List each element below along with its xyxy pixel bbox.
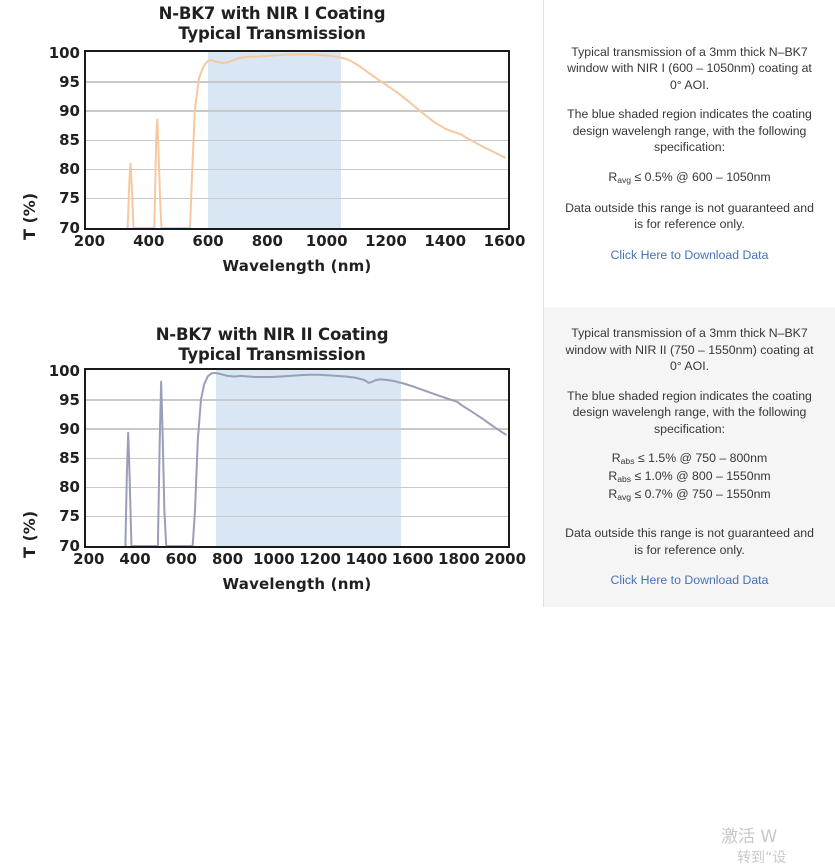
spacer bbox=[563, 517, 816, 525]
download-data-link[interactable]: Click Here to Download Data bbox=[611, 248, 769, 262]
x-tick-label: 400 bbox=[119, 552, 150, 567]
spec-line: Ravg ≤ 0.7% @ 750 – 1550nm bbox=[563, 486, 816, 504]
x-tick-label: 800 bbox=[252, 234, 283, 249]
x-tick-label: 1200 bbox=[365, 234, 407, 249]
x-tick-label: 1000 bbox=[306, 234, 348, 249]
x-axis-label-nir-i: Wavelength (nm) bbox=[84, 257, 510, 275]
spec-value: ≤ 1.0% @ 800 – 1550nm bbox=[631, 469, 771, 483]
y-tick-labels-nir-i: 707580859095100 bbox=[32, 50, 80, 230]
spec-subscript: avg bbox=[617, 492, 631, 502]
spec-line: Rabs ≤ 1.0% @ 800 – 1550nm bbox=[563, 468, 816, 486]
series-line bbox=[125, 373, 505, 546]
x-tick-label: 1400 bbox=[424, 234, 466, 249]
chart-pane-nir-ii: N-BK7 with NIR II Coating Typical Transm… bbox=[0, 307, 544, 607]
spec-subscript: avg bbox=[617, 175, 631, 185]
spec-line: Ravg ≤ 0.5% @ 600 – 1050nm bbox=[563, 169, 816, 187]
page-root: N-BK7 with NIR I Coating Typical Transmi… bbox=[0, 0, 835, 607]
chart-title-nir-i: N-BK7 with NIR I Coating Typical Transmi… bbox=[0, 4, 544, 44]
x-tick-label: 1200 bbox=[299, 552, 341, 567]
x-tick-label: 1400 bbox=[346, 552, 388, 567]
spec-symbol: R bbox=[608, 170, 617, 184]
series-line bbox=[128, 54, 505, 228]
y-tick-label: 85 bbox=[34, 133, 80, 148]
x-tick-label: 400 bbox=[133, 234, 164, 249]
data-curve bbox=[86, 52, 508, 228]
plot-area-nir-i: T (%) 707580859095100 200400600800100012… bbox=[0, 50, 544, 265]
y-tick-label: 85 bbox=[34, 451, 80, 466]
x-tick-labels-nir-ii: 200400600800100012001400160018002000 bbox=[84, 552, 510, 574]
info-paragraph: The blue shaded region indicates the coa… bbox=[563, 106, 816, 156]
y-tick-label: 90 bbox=[34, 104, 80, 119]
spec-subscript: abs bbox=[621, 456, 635, 466]
x-tick-labels-nir-i: 2004006008001000120014001600 bbox=[84, 234, 510, 256]
download-data-link[interactable]: Click Here to Download Data bbox=[611, 573, 769, 587]
y-tick-label: 75 bbox=[34, 509, 80, 524]
watermark-line1: 激活 W bbox=[721, 827, 835, 848]
spec-line: Rabs ≤ 1.5% @ 750 – 800nm bbox=[563, 450, 816, 468]
spec-value: ≤ 1.5% @ 750 – 800nm bbox=[635, 451, 768, 465]
y-tick-label: 95 bbox=[34, 75, 80, 90]
x-axis-label-nir-ii: Wavelength (nm) bbox=[84, 575, 510, 593]
y-tick-label: 75 bbox=[34, 191, 80, 206]
y-tick-labels-nir-ii: 707580859095100 bbox=[32, 368, 80, 548]
x-tick-label: 600 bbox=[166, 552, 197, 567]
plot-area-nir-ii: T (%) 707580859095100 200400600800100012… bbox=[0, 368, 544, 583]
spec-symbol: R bbox=[612, 451, 621, 465]
spec-list-nir-ii: Rabs ≤ 1.5% @ 750 – 800nmRabs ≤ 1.0% @ 8… bbox=[563, 450, 816, 504]
plot-box-nir-ii bbox=[84, 368, 510, 548]
chart-title-line2: Typical Transmission bbox=[0, 24, 544, 44]
watermark-line2: 转到“设 bbox=[721, 848, 835, 868]
chart-pane-nir-i: N-BK7 with NIR I Coating Typical Transmi… bbox=[0, 0, 544, 307]
y-tick-label: 80 bbox=[34, 480, 80, 495]
spec-value: ≤ 0.5% @ 600 – 1050nm bbox=[631, 170, 771, 184]
x-tick-label: 1600 bbox=[392, 552, 434, 567]
x-tick-label: 200 bbox=[73, 552, 104, 567]
spec-value: ≤ 0.7% @ 750 – 1550nm bbox=[631, 487, 771, 501]
info-paragraph: Typical transmission of a 3mm thick N–BK… bbox=[563, 44, 816, 94]
x-tick-label: 2000 bbox=[484, 552, 526, 567]
x-tick-label: 1600 bbox=[484, 234, 526, 249]
y-tick-label: 80 bbox=[34, 162, 80, 177]
y-tick-label: 100 bbox=[34, 46, 80, 61]
spec-list-nir-i: Ravg ≤ 0.5% @ 600 – 1050nm bbox=[563, 169, 816, 187]
info-paragraph: Typical transmission of a 3mm thick N–BK… bbox=[563, 325, 816, 375]
x-tick-label: 800 bbox=[212, 552, 243, 567]
windows-activation-watermark: 激活 W 转到“设 bbox=[721, 827, 835, 868]
x-tick-label: 200 bbox=[74, 234, 105, 249]
y-tick-label: 100 bbox=[34, 364, 80, 379]
info-note: Data outside this range is not guarantee… bbox=[563, 200, 816, 233]
section-nir-i: N-BK7 with NIR I Coating Typical Transmi… bbox=[0, 0, 835, 307]
x-tick-label: 600 bbox=[192, 234, 223, 249]
y-tick-label: 95 bbox=[34, 393, 80, 408]
spec-subscript: abs bbox=[617, 474, 631, 484]
spec-symbol: R bbox=[608, 487, 617, 501]
x-tick-label: 1000 bbox=[253, 552, 295, 567]
y-tick-label: 90 bbox=[34, 422, 80, 437]
data-curve bbox=[86, 370, 508, 546]
chart-title-line1: N-BK7 with NIR II Coating bbox=[0, 325, 544, 345]
spec-symbol: R bbox=[608, 469, 617, 483]
chart-title-nir-ii: N-BK7 with NIR II Coating Typical Transm… bbox=[0, 325, 544, 365]
info-pane-nir-i: Typical transmission of a 3mm thick N–BK… bbox=[544, 0, 835, 307]
section-nir-ii: N-BK7 with NIR II Coating Typical Transm… bbox=[0, 307, 835, 607]
chart-title-line1: N-BK7 with NIR I Coating bbox=[0, 4, 544, 24]
plot-box-nir-i bbox=[84, 50, 510, 230]
info-pane-nir-ii: Typical transmission of a 3mm thick N–BK… bbox=[544, 307, 835, 607]
x-tick-label: 1800 bbox=[438, 552, 480, 567]
info-note: Data outside this range is not guarantee… bbox=[563, 525, 816, 558]
chart-title-line2: Typical Transmission bbox=[0, 345, 544, 365]
info-paragraph: The blue shaded region indicates the coa… bbox=[563, 388, 816, 438]
